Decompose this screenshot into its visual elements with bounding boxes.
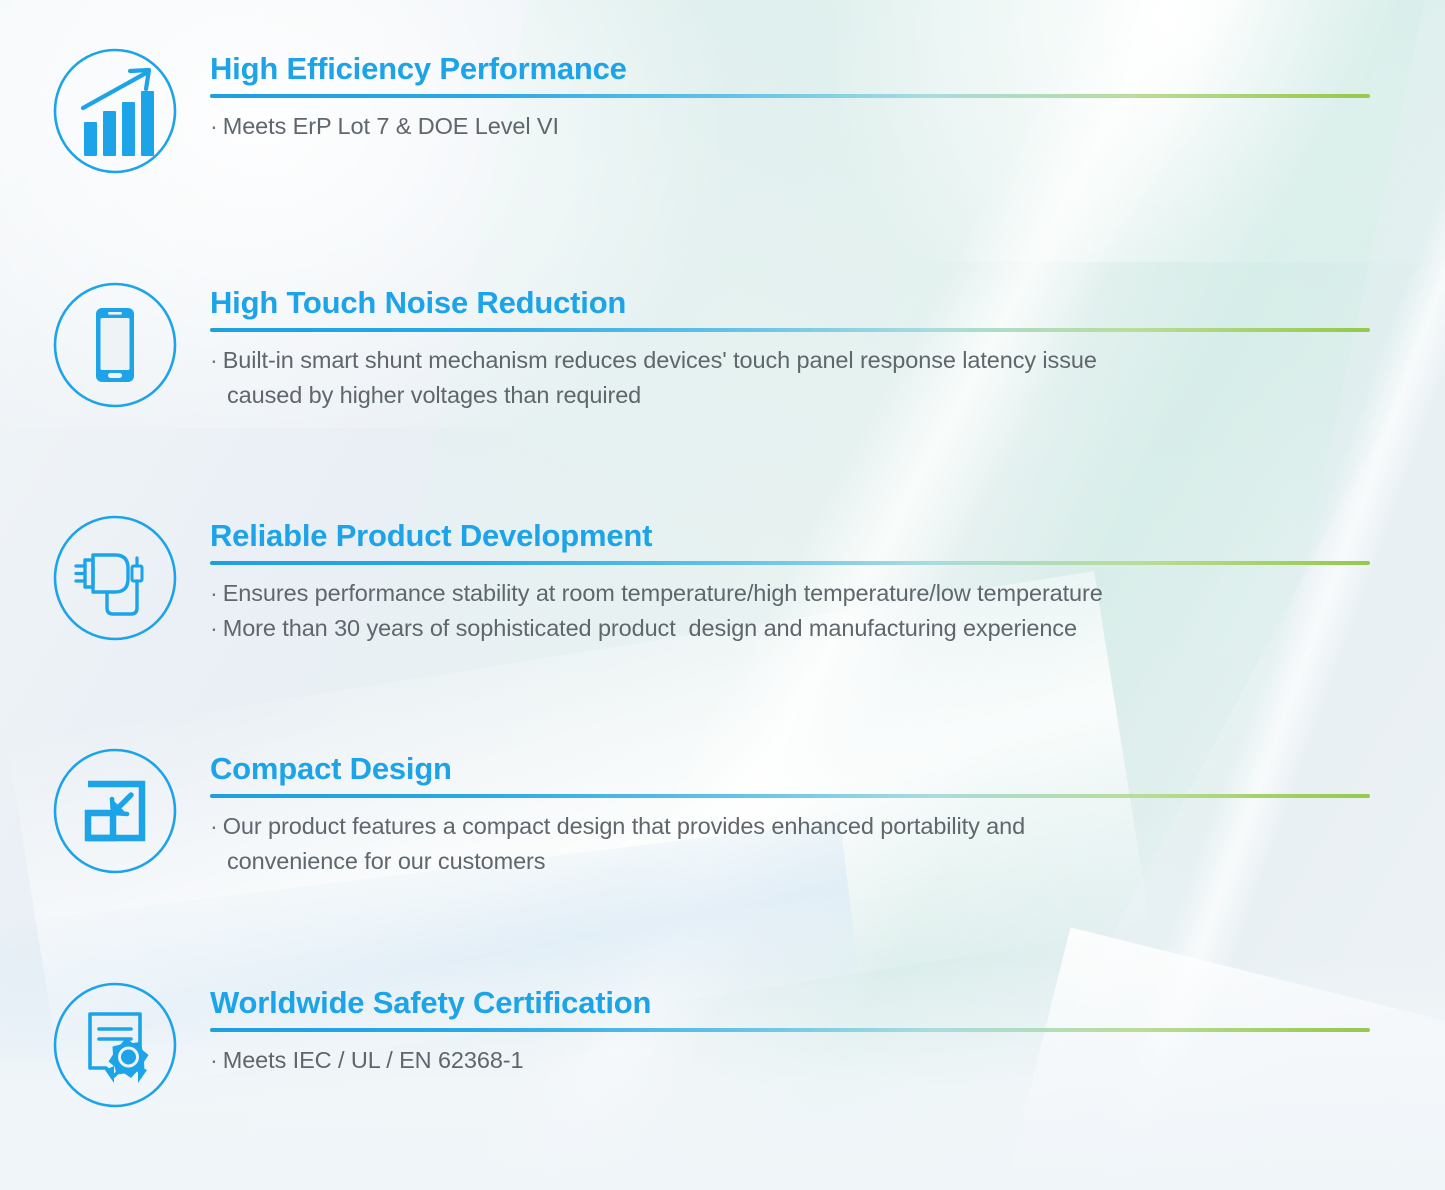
- bullet-text: Meets ErP Lot 7 & DOE Level VI: [223, 113, 559, 139]
- feature-title: Reliable Product Development: [210, 519, 1370, 552]
- bullet-text: Our product features a compact design th…: [223, 813, 1025, 839]
- feature-divider: [210, 94, 1370, 98]
- feature-title: High Touch Noise Reduction: [210, 286, 1370, 319]
- feature-content: Reliable Product Development ·Ensures pe…: [210, 519, 1370, 645]
- bullet-marker: ·: [210, 1047, 218, 1073]
- bullet-text: Built-in smart shunt mechanism reduces d…: [223, 347, 1097, 373]
- feature-title: Compact Design: [210, 752, 1370, 785]
- power-adapter-icon: [52, 515, 178, 641]
- smartphone-icon: [52, 282, 178, 408]
- bullet-text: More than 30 years of sophisticated prod…: [223, 615, 1077, 641]
- feature-title: Worldwide Safety Certification: [210, 986, 1370, 1019]
- feature-content: Worldwide Safety Certification ·Meets IE…: [210, 986, 1370, 1078]
- certificate-award-icon: [52, 982, 178, 1108]
- bullet-text-continued: caused by higher voltages than required: [210, 378, 1370, 412]
- bullet-item: ·Meets IEC / UL / EN 62368-1: [210, 1043, 1370, 1077]
- bullet-item: ·Meets ErP Lot 7 & DOE Level VI: [210, 109, 1370, 143]
- feature-divider: [210, 794, 1370, 798]
- feature-bullet-list: ·Meets ErP Lot 7 & DOE Level VI: [210, 109, 1370, 143]
- feature-title: High Efficiency Performance: [210, 52, 1370, 85]
- feature-bullet-list: ·Meets IEC / UL / EN 62368-1: [210, 1043, 1370, 1077]
- feature-content: High Efficiency Performance ·Meets ErP L…: [210, 52, 1370, 144]
- bullet-text-continued: convenience for our customers: [210, 844, 1370, 878]
- bullet-marker: ·: [210, 813, 218, 839]
- feature-content: Compact Design ·Our product features a c…: [210, 752, 1370, 878]
- feature-divider: [210, 1028, 1370, 1032]
- feature-content: High Touch Noise Reduction ·Built-in sma…: [210, 286, 1370, 412]
- feature-divider: [210, 328, 1370, 332]
- feature-highlights-page: High Efficiency Performance ·Meets ErP L…: [0, 0, 1445, 1190]
- feature-bullet-list: ·Ensures performance stability at room t…: [210, 576, 1370, 645]
- bullet-marker: ·: [210, 615, 218, 641]
- bullet-item: ·Ensures performance stability at room t…: [210, 576, 1370, 610]
- bullet-marker: ·: [210, 113, 218, 139]
- bar-chart-growth-icon: [52, 48, 178, 174]
- bullet-marker: ·: [210, 347, 218, 373]
- bullet-marker: ·: [210, 580, 218, 606]
- bullet-item: ·Built-in smart shunt mechanism reduces …: [210, 343, 1370, 412]
- feature-bullet-list: ·Our product features a compact design t…: [210, 809, 1370, 878]
- feature-bullet-list: ·Built-in smart shunt mechanism reduces …: [210, 343, 1370, 412]
- bullet-text: Meets IEC / UL / EN 62368-1: [223, 1047, 524, 1073]
- feature-divider: [210, 561, 1370, 565]
- bullet-text: Ensures performance stability at room te…: [223, 580, 1103, 606]
- bullet-item: ·More than 30 years of sophisticated pro…: [210, 611, 1370, 645]
- shrink-square-icon: [52, 748, 178, 874]
- bullet-item: ·Our product features a compact design t…: [210, 809, 1370, 878]
